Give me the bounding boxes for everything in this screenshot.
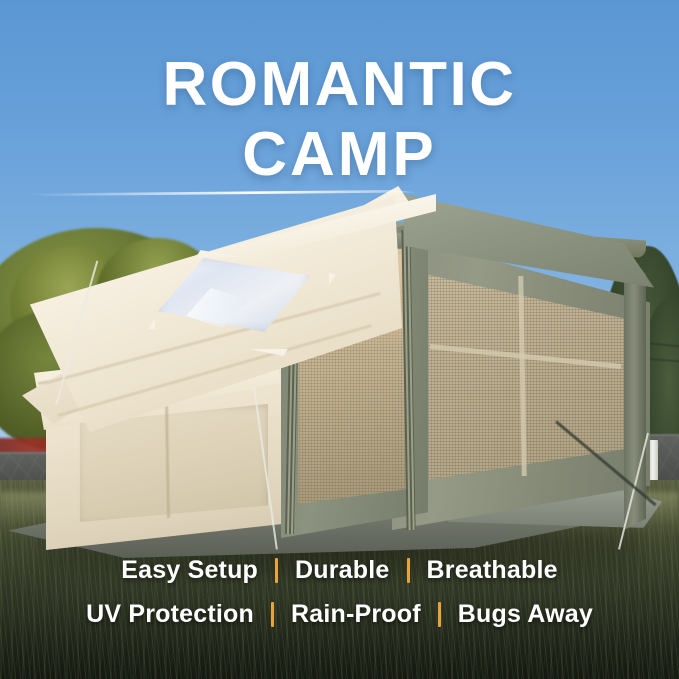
feature-rain-proof: Rain-Proof <box>274 600 438 629</box>
feature-uv-protection: UV Protection <box>69 600 271 629</box>
roof-edge-highlight <box>24 190 416 196</box>
feature-durable: Durable <box>278 556 406 585</box>
product-hero-image: ROMANTIC CAMP <box>0 0 679 679</box>
feature-list: Easy Setup Durable Breathable UV Protect… <box>0 548 679 636</box>
feature-row-1: Easy Setup Durable Breathable <box>0 548 679 592</box>
feature-breathable: Breathable <box>410 556 575 585</box>
feature-row-2: UV Protection Rain-Proof Bugs Away <box>0 592 679 636</box>
feature-bugs-away: Bugs Away <box>441 600 610 629</box>
feature-easy-setup: Easy Setup <box>104 556 275 585</box>
